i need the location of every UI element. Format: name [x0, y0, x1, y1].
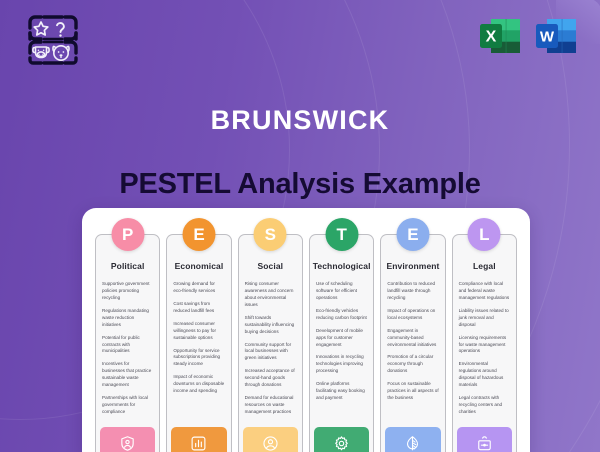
column-bullets: Supportive government policies promoting…	[96, 271, 159, 452]
bullet-item: Growing demand for eco-friendly services	[173, 281, 224, 295]
letter-badge-p-0: P	[111, 218, 144, 251]
pestel-column-political: PPoliticalSupportive government policies…	[95, 234, 160, 452]
column-header: Environment	[381, 262, 444, 271]
bullet-item: Focus on sustainable practices in all as…	[387, 381, 438, 402]
bullet-item: Promotion of a circular economy through …	[387, 354, 438, 375]
bullet-item: Compliance with local and federal waste …	[459, 281, 510, 302]
bullet-item: Supportive government policies promoting…	[102, 281, 153, 302]
svg-text:W: W	[540, 29, 555, 46]
page-title: PESTEL Analysis Example	[0, 168, 600, 201]
bullet-item: Licensing requirements for waste managem…	[459, 335, 510, 356]
word-icon[interactable]: W	[534, 14, 578, 58]
gear-icon	[314, 427, 369, 452]
bullet-item: Liability issues related to junk removal…	[459, 308, 510, 329]
pestel-column-economical: EEconomicalGrowing demand for eco-friend…	[166, 234, 231, 452]
bullet-item: Impact of operations on local ecosystems	[387, 308, 438, 322]
bullet-item: Opportunity for service subscriptions pr…	[173, 348, 224, 369]
bullet-item: Potential for public contracts with muni…	[102, 335, 153, 356]
pestel-columns: PPoliticalSupportive government policies…	[95, 234, 517, 452]
bullet-item: Innovations in recycling technologies im…	[316, 354, 367, 375]
bullet-item: Increased acceptance of second-hand good…	[245, 368, 296, 389]
bullet-item: Rising consumer awareness and concern ab…	[245, 281, 296, 309]
letter-badge-e-1: E	[182, 218, 215, 251]
bullet-item: Incentives for businesses that practice …	[102, 361, 153, 389]
bullet-item: Eco-friendly vehicles reducing carbon fo…	[316, 308, 367, 322]
question-mark-icon	[57, 23, 64, 37]
bullet-item: Demand for educational resources on wast…	[245, 395, 296, 416]
bullet-item: Regulations mandating waste reduction in…	[102, 308, 153, 329]
brand-logo[interactable]	[25, 12, 81, 68]
brand-name: BRUNSWICK	[0, 105, 600, 136]
pestel-column-social: SSocialRising consumer awareness and con…	[238, 234, 303, 452]
letter-badge-l-5: L	[468, 218, 501, 251]
bullet-item: Environmental regulations around disposa…	[459, 361, 510, 389]
dog-face-icon	[53, 46, 69, 60]
bullet-item: Contribution to reduced landfill waste t…	[387, 281, 438, 302]
pestel-column-technological: TTechnologicalUse of scheduling software…	[309, 234, 374, 452]
bullet-item: Community support for local businesses w…	[245, 342, 296, 363]
pestel-card: PPoliticalSupportive government policies…	[82, 208, 530, 452]
bullet-item: Engagement in community-based environmen…	[387, 328, 438, 349]
cow-face-icon	[33, 47, 49, 58]
bullet-item: Partnerships with local governments for …	[102, 395, 153, 416]
bullet-item: Impact of economic downturns on disposab…	[173, 374, 224, 395]
star-icon	[34, 22, 48, 35]
bullet-item: Use of scheduling software for efficient…	[316, 281, 367, 302]
bullet-item: Development of mobile apps for customer …	[316, 328, 367, 349]
bullet-item: Shift towards sustainability influencing…	[245, 315, 296, 336]
bullet-item: Legal contracts with recycling centers a…	[459, 395, 510, 416]
column-header: Legal	[453, 262, 516, 271]
bullet-item: Online platforms facilitating easy booki…	[316, 381, 367, 402]
column-header: Political	[96, 262, 159, 271]
pestel-column-legal: LLegalCompliance with local and federal …	[452, 234, 517, 452]
excel-icon[interactable]: X	[478, 14, 522, 58]
letter-badge-t-3: T	[325, 218, 358, 251]
column-header: Technological	[310, 262, 373, 271]
bullet-item: Cost savings from reduced landfill fees	[173, 301, 224, 315]
column-bullets: Compliance with local and federal waste …	[453, 271, 516, 452]
column-bullets: Contribution to reduced landfill waste t…	[381, 271, 444, 452]
leaf-icon	[385, 427, 440, 452]
person-circle-icon	[243, 427, 298, 452]
bar-chart-icon	[171, 427, 226, 452]
bullet-item: Increased consumer willingness to pay fo…	[173, 321, 224, 342]
column-header: Economical	[167, 262, 230, 271]
shield-person-icon	[100, 427, 155, 452]
letter-badge-e-4: E	[396, 218, 429, 251]
column-bullets: Rising consumer awareness and concern ab…	[239, 271, 302, 452]
letter-badge-s-2: S	[254, 218, 287, 251]
judge-scale-icon	[457, 427, 512, 452]
column-header: Social	[239, 262, 302, 271]
office-app-icons: X W	[478, 14, 578, 58]
column-bullets: Growing demand for eco-friendly services…	[167, 271, 230, 452]
pestel-column-environment: EEnvironmentContribution to reduced land…	[380, 234, 445, 452]
svg-text:X: X	[486, 29, 497, 46]
column-bullets: Use of scheduling software for efficient…	[310, 271, 373, 452]
